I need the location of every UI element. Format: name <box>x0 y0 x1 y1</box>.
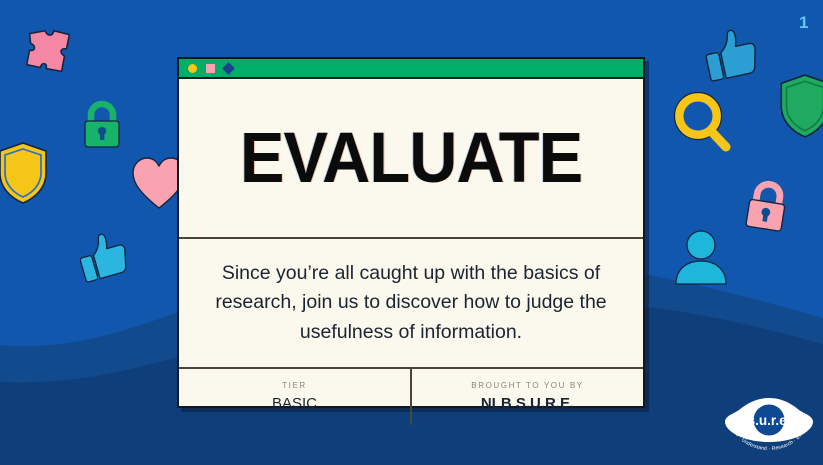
tier-value: BASIC <box>272 395 317 412</box>
puzzle-piece-icon <box>18 22 80 84</box>
credit-value: NLB S.U.R.E. <box>481 395 574 412</box>
diamond-control-icon[interactable] <box>222 62 235 75</box>
credit-label: BROUGHT TO YOU BY <box>471 381 583 390</box>
footer-tier-cell: TIER BASIC <box>179 369 410 425</box>
body-text: Since you’re all caught up with the basi… <box>205 259 617 348</box>
sure-logo: s.u.r.e. Source · Understand · Research … <box>723 392 815 452</box>
shield-green-icon <box>778 72 823 140</box>
person-cyan-icon <box>672 228 730 286</box>
window-titlebar <box>179 59 643 79</box>
sure-logo-text: s.u.r.e. <box>748 413 791 428</box>
magnifier-yellow-icon <box>672 90 736 156</box>
square-control-icon[interactable] <box>206 64 215 73</box>
headline-section: EVALUATE <box>179 79 643 239</box>
card-footer: TIER BASIC BROUGHT TO YOU BY NLB S.U.R.E… <box>179 369 643 425</box>
footer-credit-cell: BROUGHT TO YOU BY NLB S.U.R.E. <box>410 369 643 425</box>
tier-label: TIER <box>282 381 307 390</box>
shield-yellow-icon <box>0 140 49 206</box>
slide-canvas: 1 <box>0 0 823 465</box>
body-section: Since you’re all caught up with the basi… <box>179 239 643 369</box>
slide-card: EVALUATE Since you’re all caught up with… <box>177 57 645 408</box>
page-title: EVALUATE <box>240 123 582 194</box>
page-number: 1 <box>799 14 809 31</box>
circle-control-icon[interactable] <box>188 64 197 73</box>
padlock-green-icon <box>80 100 124 148</box>
padlock-pink-icon <box>740 177 793 234</box>
